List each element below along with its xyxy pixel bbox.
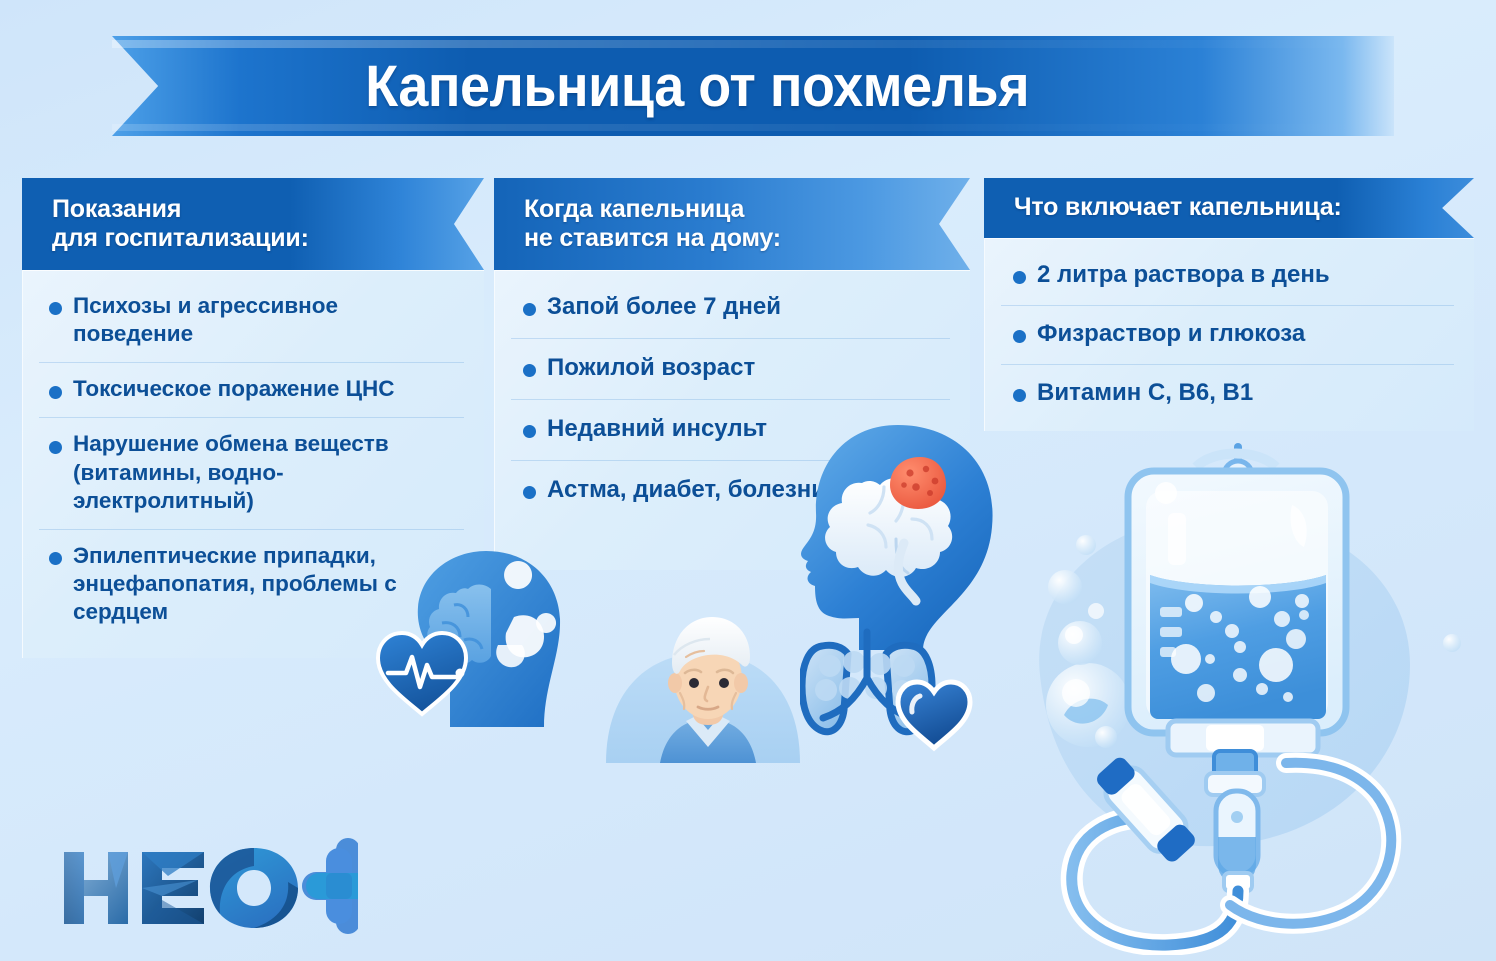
column-contraindications: Когда капельница не ставится на дому: За… bbox=[494, 178, 970, 570]
title-banner: Капельница от похмелья bbox=[112, 36, 1394, 136]
indications-list: Психозы и агрессивное поведение Токсичес… bbox=[39, 292, 464, 640]
list-item: Пожилой возраст bbox=[511, 338, 950, 399]
column-indications-body: Психозы и агрессивное поведение Токсичес… bbox=[22, 270, 484, 658]
lungs-heart-icon bbox=[800, 620, 985, 765]
list-item: Витамин C, B6, B1 bbox=[1001, 364, 1454, 423]
list-item: Нарушение обмена веществ (витамины, водн… bbox=[39, 417, 464, 528]
column-contraindications-header: Когда капельница не ставится на дому: bbox=[494, 178, 970, 270]
infographic-canvas: Капельница от похмелья Показания для гос… bbox=[0, 0, 1496, 961]
page-title: Капельница от похмелья bbox=[157, 36, 1349, 136]
column-contraindications-title: Когда капельница не ставится на дому: bbox=[524, 195, 781, 254]
contraindications-list: Запой более 7 дней Пожилой возраст Недав… bbox=[511, 292, 950, 521]
list-item: Физраствор и глюкоза bbox=[1001, 305, 1454, 364]
column-contents: Что включает капельница: 2 литра раствор… bbox=[984, 178, 1474, 431]
column-contents-body: 2 литра раствора в день Физраствор и глю… bbox=[984, 238, 1474, 431]
list-item: 2 литра раствора в день bbox=[1001, 260, 1454, 305]
column-contents-title: Что включает капельница: bbox=[1014, 193, 1342, 223]
column-indications-header: Показания для госпитализации: bbox=[22, 178, 484, 270]
list-item: Токсическое поражение ЦНС bbox=[39, 362, 464, 417]
column-contraindications-body: Запой более 7 дней Пожилой возраст Недав… bbox=[494, 270, 970, 570]
column-contents-header: Что включает капельница: bbox=[984, 178, 1474, 238]
iv-drip-bag-icon bbox=[1000, 425, 1496, 955]
list-item: Недавний инсульт bbox=[511, 399, 950, 460]
neo-plus-logo bbox=[58, 838, 358, 934]
column-indications-title: Показания для госпитализации: bbox=[52, 195, 309, 254]
list-item: Психозы и агрессивное поведение bbox=[39, 292, 464, 362]
list-item: Астма, диабет, болезни сердца bbox=[511, 460, 950, 521]
contents-list: 2 литра раствора в день Физраствор и глю… bbox=[1001, 260, 1454, 423]
elderly-person-icon bbox=[600, 595, 810, 765]
list-item: Запой более 7 дней bbox=[511, 292, 950, 338]
column-indications: Показания для госпитализации: Психозы и … bbox=[22, 178, 484, 658]
list-item: Эпилептические припадки, энцефапопатия, … bbox=[39, 529, 464, 640]
